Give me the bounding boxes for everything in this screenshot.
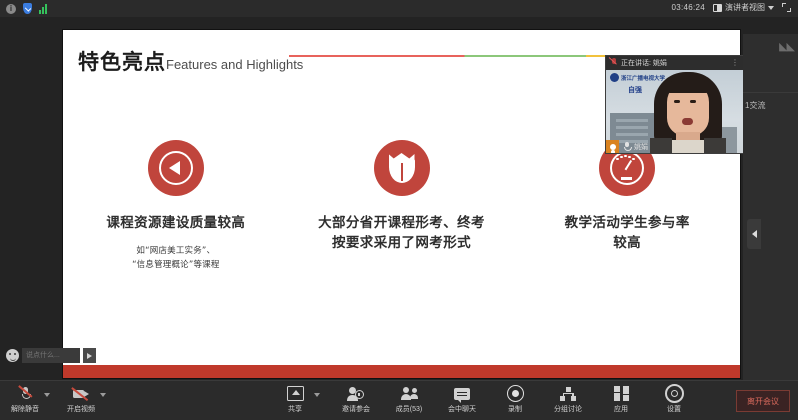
invite-icon [348,387,364,401]
settings-button[interactable]: 设置 [657,385,691,414]
slide-title-cn: 特色亮点 [78,46,166,76]
participant-name: 姚娟 [634,142,648,152]
slide-footer-bar [63,365,740,378]
chevron-down-icon[interactable] [100,393,106,397]
view-mode-label: 演讲者视图 [725,2,765,13]
slide-column-3: 教学活动学生参与率 较高 [514,140,740,272]
info-icon[interactable]: i [6,4,16,14]
avatar-icon [606,140,619,153]
apps-icon [614,386,629,401]
meeting-stage: 特色亮点 Features and Highlights 课程资源建设质量较高 … [0,17,798,380]
invite-label: 邀请参会 [342,404,370,414]
column-heading: 课程资源建设质量较高 [106,214,245,234]
meeting-window: i 03:46:24 演讲者视图 特色亮点 Features and Highl… [0,0,798,419]
shield-icon[interactable] [23,3,32,14]
share-control[interactable]: 共享 [278,385,320,414]
chevron-down-icon[interactable] [314,393,320,397]
right-panel-tab[interactable]: 1交流 [745,100,765,111]
record-button[interactable]: 录制 [498,385,532,414]
send-icon[interactable] [83,348,96,363]
slide-title: 特色亮点 Features and Highlights [78,46,303,76]
chat-input[interactable] [22,348,80,363]
chat-label: 会中聊天 [448,404,476,414]
apps-button[interactable]: 应用 [604,385,638,414]
share-label: 共享 [288,404,302,414]
toolbar-left-group: 解除静音 开启视频 [8,385,106,414]
meeting-timer: 03:46:24 [671,3,705,12]
view-mode-switch[interactable]: 演讲者视图 [713,2,774,13]
mic-off-icon [20,386,31,401]
column-heading: 大部分省开课程形考、终考 按要求采用了网考形式 [318,214,485,253]
leave-meeting-button[interactable]: 离开会议 [736,390,790,412]
settings-label: 设置 [667,404,681,414]
overflow-icon[interactable]: ◣◣ [779,40,794,53]
signal-icon[interactable] [39,4,47,14]
unmute-control[interactable]: 解除静音 [8,385,50,414]
members-button[interactable]: 成员(53) [392,385,426,414]
emoji-icon[interactable] [6,349,19,362]
bottom-toolbar: 解除静音 开启视频 共享 邀 [0,380,798,420]
top-bar: i 03:46:24 演讲者视图 [0,0,798,17]
right-side-panel: ◣◣ 1交流 [743,34,798,397]
unmute-button[interactable]: 解除静音 [8,385,42,414]
camera-off-icon [73,388,89,400]
breakout-rooms-label: 分组讨论 [554,404,582,414]
chevron-down-icon [768,6,774,10]
chat-button[interactable]: 会中聊天 [445,385,479,414]
slide-column-2: 大部分省开课程形考、终考 按要求采用了网考形式 [289,140,515,272]
play-circle-icon [148,140,204,196]
video-tile-header: 正在讲话: 姚娟 ⋮ [606,56,743,70]
mic-muted-icon [610,58,617,68]
video-overlay-name: 自强 [628,85,642,95]
start-video-label: 开启视频 [67,404,95,414]
video-feed: 浙江广播电视大学 自强 姚娟 [606,70,743,153]
top-bar-left-icons: i [6,3,47,14]
leave-meeting-label: 离开会议 [747,396,779,407]
chevron-down-icon[interactable] [44,393,50,397]
fullscreen-icon[interactable] [782,3,791,12]
record-label: 录制 [508,404,522,414]
speaker-view-icon [713,4,722,12]
members-label: 成员(53) [396,404,422,414]
chevron-left-icon[interactable] [747,219,761,249]
toolbar-center-group: 共享 邀请参会 成员(53) 会中聊天 录制 [278,385,691,414]
members-icon [401,387,418,401]
column-heading: 教学活动学生参与率 较高 [565,214,690,253]
speaking-label: 正在讲话: 姚娟 [621,58,667,68]
share-button[interactable]: 共享 [278,385,312,414]
right-panel-header: ◣◣ [743,34,798,93]
start-video-control[interactable]: 开启视频 [64,385,106,414]
record-icon [507,385,524,402]
slide-title-en: Features and Highlights [166,57,303,72]
apps-label: 应用 [614,404,628,414]
slide-columns: 课程资源建设质量较高 如“网店美工实务”、 “信息管理概论”等课程 大部分省开课… [63,140,740,272]
breakout-rooms-button[interactable]: 分组讨论 [551,385,585,414]
top-bar-right: 03:46:24 演讲者视图 [671,2,791,13]
unmute-label: 解除静音 [11,404,39,414]
share-screen-icon [287,386,304,401]
breakout-rooms-icon [560,387,576,401]
slide-column-1: 课程资源建设质量较高 如“网店美工实务”、 “信息管理概论”等课程 [63,140,289,272]
more-options-icon[interactable]: ⋮ [731,60,739,66]
quick-chat-box [6,348,96,363]
start-video-button[interactable]: 开启视频 [64,385,98,414]
speaker-video-tile[interactable]: 正在讲话: 姚娟 ⋮ 浙江广播电视大学 自强 [606,56,743,153]
shield-crown-icon [374,140,430,196]
column-subtext: 如“网店美工实务”、 “信息管理概论”等课程 [132,244,220,273]
chat-icon [454,388,470,400]
mic-icon [623,142,630,151]
invite-button[interactable]: 邀请参会 [339,385,373,414]
video-tile-footer: 姚娟 [606,140,743,153]
settings-gear-icon [665,384,684,403]
